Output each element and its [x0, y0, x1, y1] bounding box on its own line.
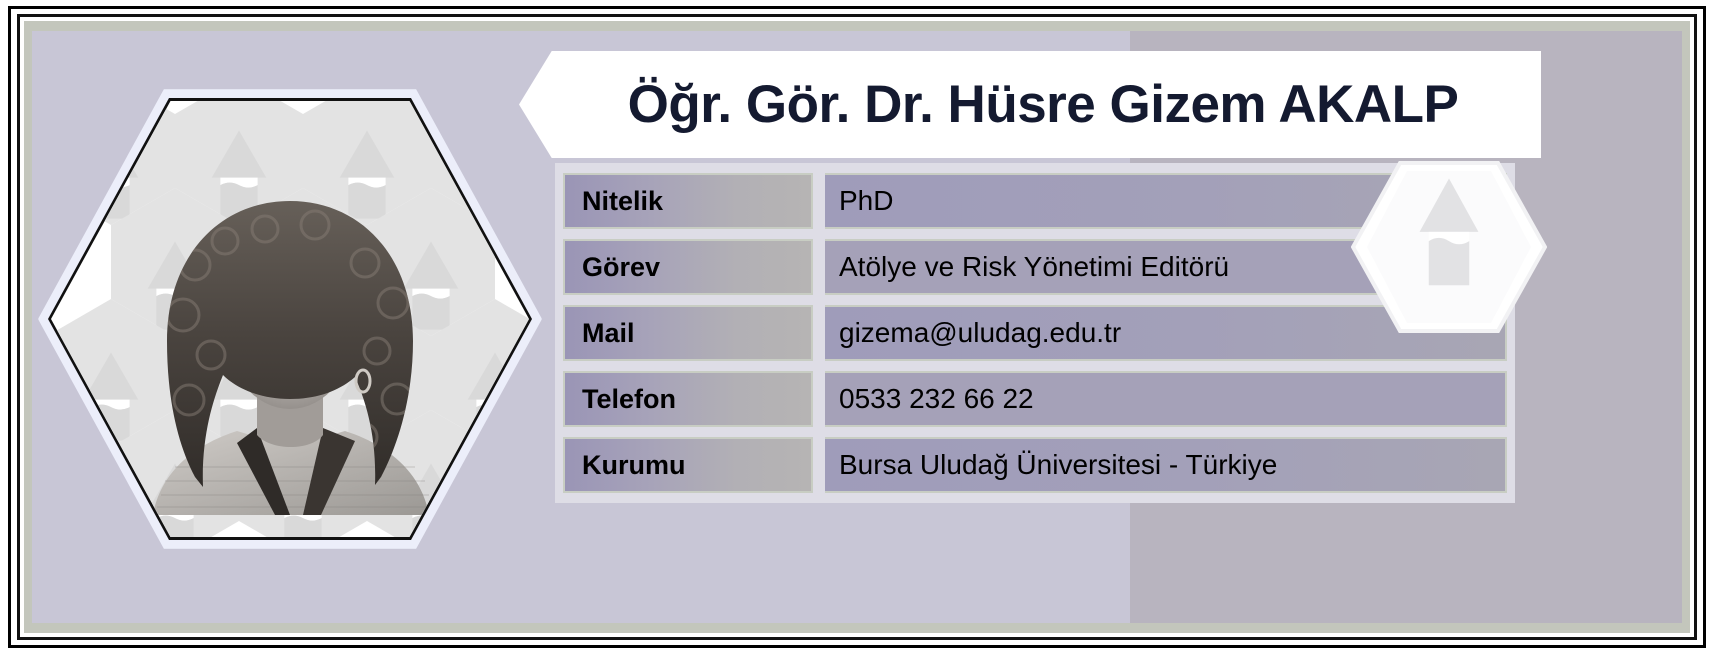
decorative-hexagon-icon: [1351, 161, 1547, 333]
business-card-page: Öğr. Gör. Dr. Hüsre Gizem AKALP Nitelik …: [0, 0, 1714, 654]
